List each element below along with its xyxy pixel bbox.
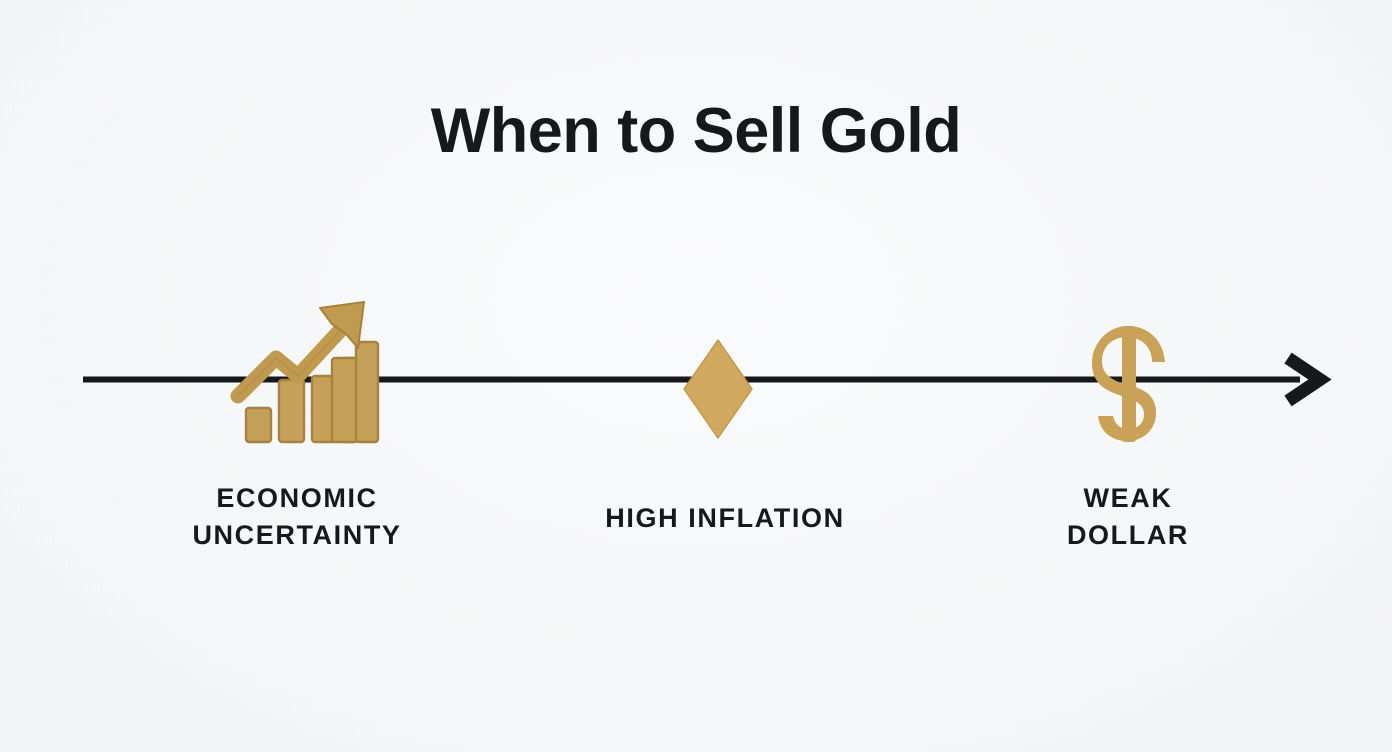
label-line-1: HIGH INFLATION — [545, 500, 905, 537]
dollar-sign-icon — [1092, 326, 1166, 442]
label-line-1: WEAK — [948, 480, 1308, 517]
infographic-canvas: When to Sell Gold ECONOMIC UN — [0, 0, 1392, 752]
node-label-economic-uncertainty: ECONOMIC UNCERTAINTY — [107, 480, 487, 554]
label-line-2: UNCERTAINTY — [107, 517, 487, 554]
node-label-weak-dollar: WEAK DOLLAR — [948, 480, 1308, 554]
gold-diamond-icon — [682, 338, 754, 440]
growth-chart-arrow-icon — [228, 296, 380, 448]
node-label-high-inflation: HIGH INFLATION — [545, 500, 905, 537]
label-line-1: ECONOMIC — [107, 480, 487, 517]
label-line-2: DOLLAR — [948, 517, 1308, 554]
